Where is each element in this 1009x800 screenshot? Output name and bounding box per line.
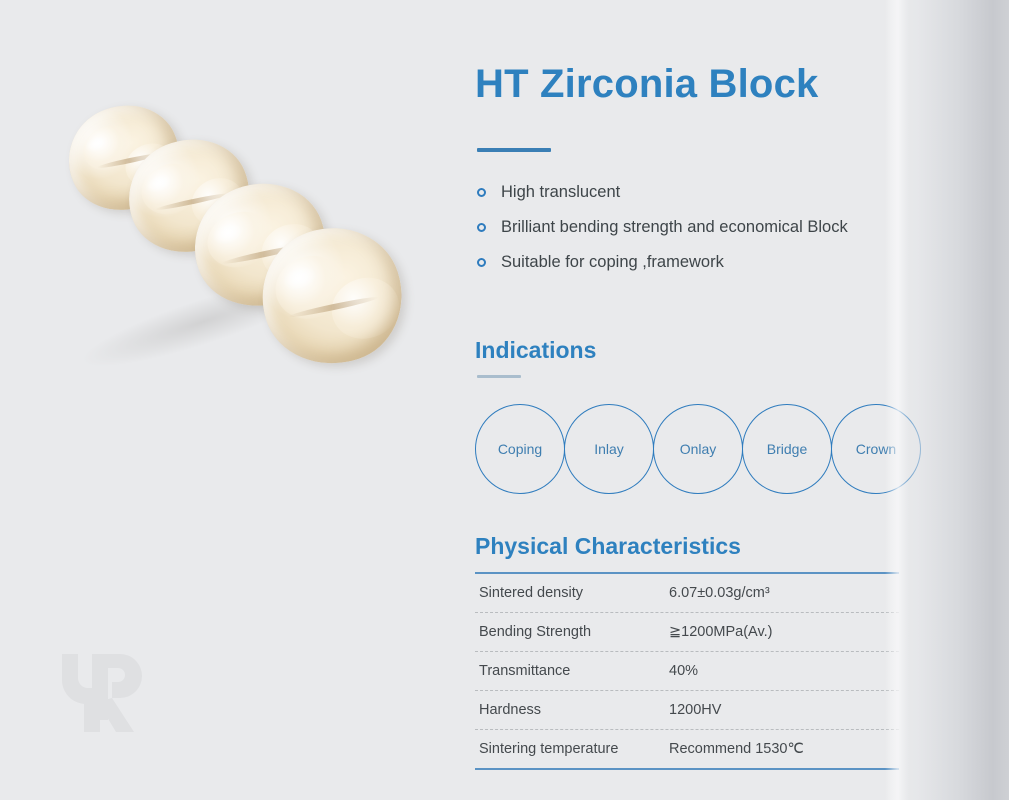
- spec-value: 6.07±0.03g/cm³: [669, 585, 770, 601]
- physical-characteristics-table: Sintered density 6.07±0.03g/cm³ Bending …: [475, 572, 899, 770]
- physical-characteristics-heading: Physical Characteristics: [475, 533, 741, 560]
- indication-label: Crown: [856, 441, 896, 457]
- indication-circle-bridge[interactable]: Bridge: [742, 404, 832, 494]
- spec-value: 40%: [669, 663, 698, 679]
- spec-label: Transmittance: [475, 663, 669, 679]
- table-row: Sintered density 6.07±0.03g/cm³: [475, 574, 899, 613]
- title-underline: [477, 148, 551, 152]
- list-item: Brilliant bending strength and economica…: [475, 217, 885, 238]
- spec-value: ≧1200MPa(Av.): [669, 624, 773, 640]
- bullet-ring-icon: [477, 188, 486, 197]
- page-title: HT Zirconia Block: [475, 62, 818, 107]
- page-edge-shadow: [891, 0, 1009, 800]
- yr-watermark-logo: [58, 646, 154, 740]
- spec-label: Bending Strength: [475, 624, 669, 640]
- table-row: Bending Strength ≧1200MPa(Av.): [475, 613, 899, 652]
- indication-label: Onlay: [680, 441, 717, 457]
- spec-label: Sintered density: [475, 585, 669, 601]
- spec-value: Recommend 1530℃: [669, 741, 804, 757]
- indication-label: Inlay: [594, 441, 624, 457]
- feature-text: Brilliant bending strength and economica…: [501, 218, 848, 236]
- indications-heading: Indications: [475, 337, 596, 364]
- spec-label: Hardness: [475, 702, 669, 718]
- table-row: Hardness 1200HV: [475, 691, 899, 730]
- table-row: Transmittance 40%: [475, 652, 899, 691]
- indications-circle-group: Coping Inlay Onlay Bridge Crown: [475, 404, 925, 498]
- bullet-ring-icon: [477, 258, 486, 267]
- list-item: High translucent: [475, 182, 885, 203]
- feature-text: Suitable for coping ,framework: [501, 253, 724, 271]
- list-item: Suitable for coping ,framework: [475, 252, 885, 273]
- spec-label: Sintering temperature: [475, 741, 669, 757]
- product-info-column: HT Zirconia Block High translucent Brill…: [475, 0, 905, 800]
- zirconia-dental-bridge-photo: [66, 96, 376, 366]
- indication-label: Bridge: [767, 441, 807, 457]
- indications-underline: [477, 375, 521, 378]
- product-datasheet-page: HT Zirconia Block High translucent Brill…: [0, 0, 1009, 800]
- indication-circle-coping[interactable]: Coping: [475, 404, 565, 494]
- table-row: Sintering temperature Recommend 1530℃: [475, 730, 899, 768]
- feature-text: High translucent: [501, 183, 620, 201]
- indication-circle-crown[interactable]: Crown: [831, 404, 921, 494]
- indication-circle-inlay[interactable]: Inlay: [564, 404, 654, 494]
- indication-circle-onlay[interactable]: Onlay: [653, 404, 743, 494]
- feature-list: High translucent Brilliant bending stren…: [475, 182, 885, 287]
- product-image-area: [0, 0, 455, 800]
- indication-label: Coping: [498, 441, 542, 457]
- spec-value: 1200HV: [669, 702, 721, 718]
- bullet-ring-icon: [477, 223, 486, 232]
